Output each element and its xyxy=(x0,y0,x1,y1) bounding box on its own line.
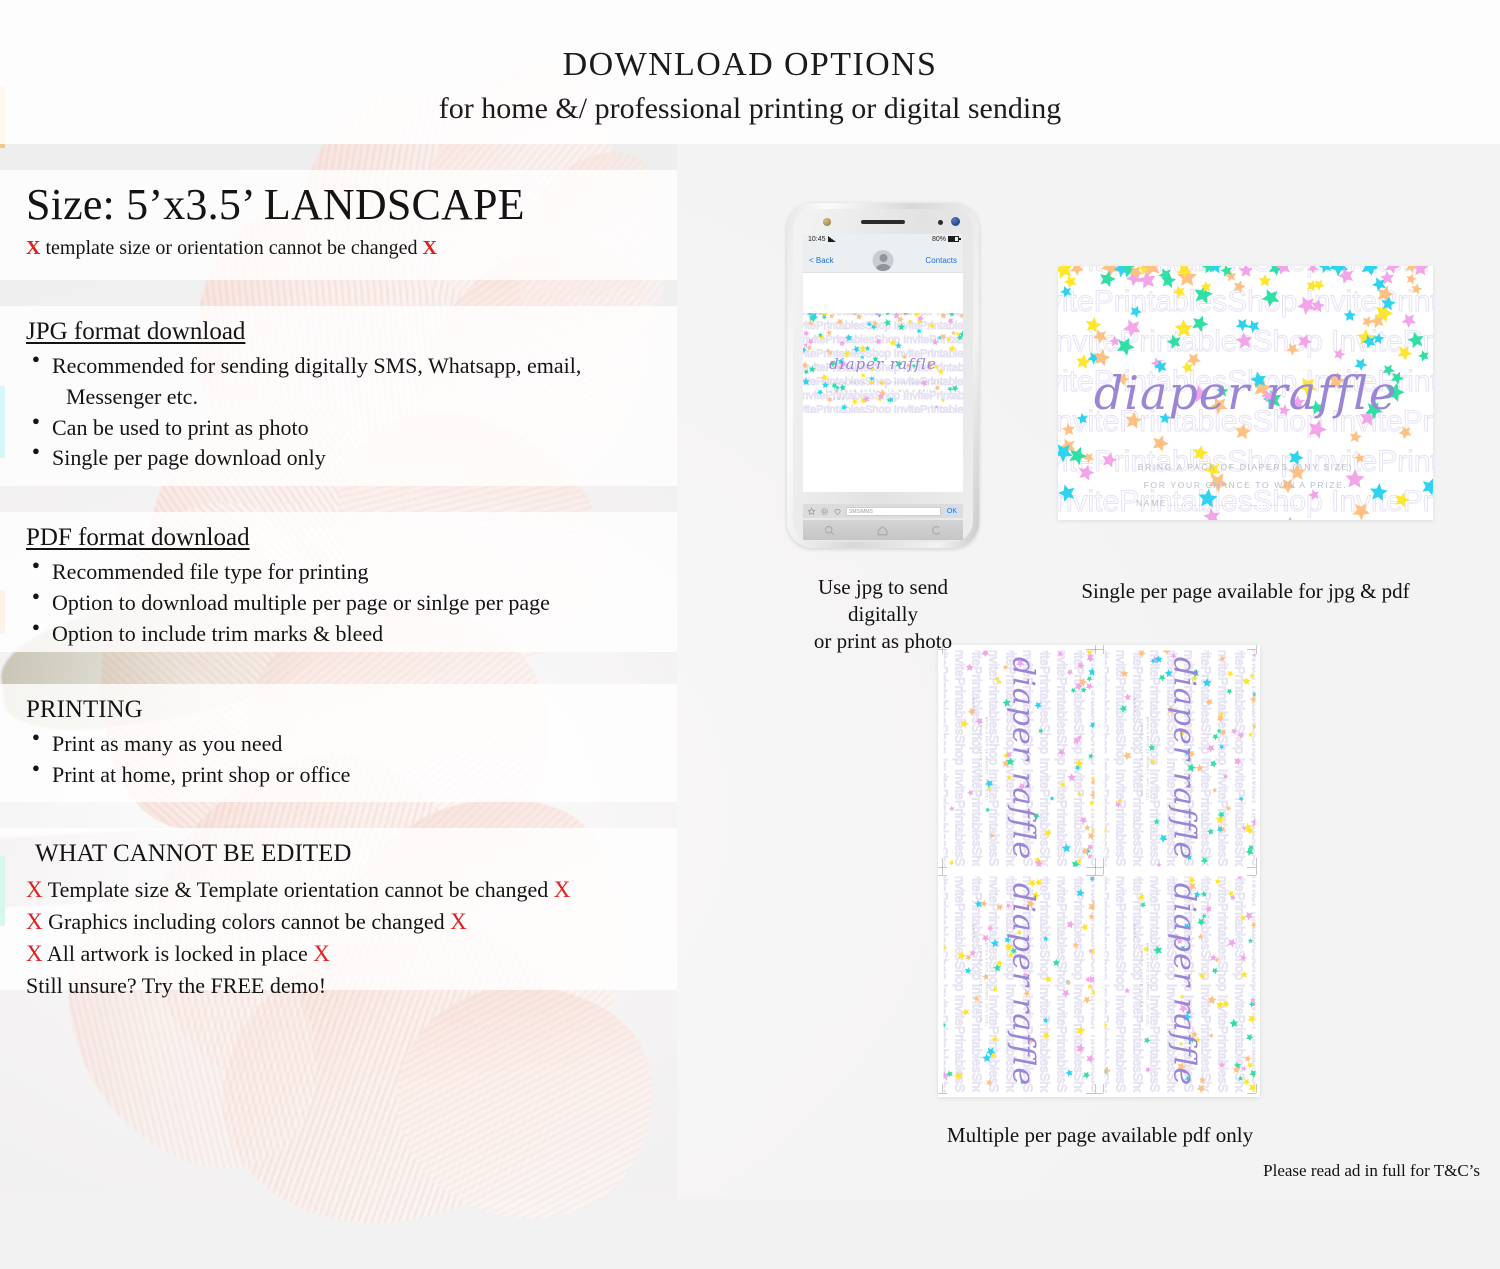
trim-mark xyxy=(1095,645,1096,654)
card-line2: FOR YOUR CHANCE TO WIN A PRIZE. xyxy=(978,650,982,866)
page-title: DOWNLOAD OPTIONS xyxy=(0,44,1500,85)
list-item: Single per page download only xyxy=(26,443,676,474)
card-title: diaper raffle xyxy=(803,355,963,373)
star-icon[interactable] xyxy=(807,507,816,516)
proximity-sensor-icon xyxy=(938,220,943,225)
section-printing: PRINTING Print as many as you need Print… xyxy=(26,696,676,791)
status-battery: 80% xyxy=(932,236,959,243)
phone-screen: 10:45 80% < Back Contacts InvitePrintabl… xyxy=(803,234,963,492)
sheet-card: InvitePrintablesShop InvitePrintablesSho… xyxy=(1103,875,1256,1093)
signal-icon xyxy=(828,236,836,242)
trim-mark xyxy=(1094,1093,1103,1094)
size-title: Size: 5’x3.5’ LANDSCAPE xyxy=(26,182,666,228)
home-icon[interactable] xyxy=(876,524,889,537)
trim-mark xyxy=(1247,1093,1256,1094)
trim-mark xyxy=(1247,649,1256,650)
list-item: Messenger etc. xyxy=(26,382,676,413)
phone-status-bar: 10:45 80% xyxy=(803,234,963,248)
card-title: diaper raffle xyxy=(1166,650,1201,866)
section-printing-heading: PRINTING xyxy=(26,696,676,724)
card-line1: BRING A PACK OF DIAPERS (ANY SIZE) xyxy=(1145,650,1149,866)
cannot-edit-line: X Graphics including colors cannot be ch… xyxy=(26,906,676,938)
trim-mark xyxy=(1094,875,1103,876)
caption-phone: Use jpg to send digitally or print as ph… xyxy=(787,574,979,655)
cannot-edit-text: Graphics including colors cannot be chan… xyxy=(48,909,444,934)
card-title: diaper raffle xyxy=(1005,876,1040,1092)
header: DOWNLOAD OPTIONS for home &/ professiona… xyxy=(0,44,1500,128)
section-cannot-edit: WHAT CANNOT BE EDITED X Template size & … xyxy=(26,840,676,1001)
size-note: X template size or orientation cannot be… xyxy=(26,237,666,260)
card-title: diaper raffle xyxy=(1058,366,1433,420)
card-line1: BRING A PACK OF DIAPERS (ANY SIZE) xyxy=(803,381,963,385)
sheet-card-rotated: InvitePrintablesShop InvitePrintablesSho… xyxy=(943,876,1094,1092)
trim-mark xyxy=(938,867,947,868)
caption-phone-line2: or print as photo xyxy=(787,628,979,655)
warning-x: X xyxy=(26,877,43,902)
trim-mark xyxy=(1103,645,1104,654)
card-line2: FOR YOUR CHANCE TO WIN A PRIZE. xyxy=(1139,876,1143,1092)
section-jpg: JPG format download Recommended for send… xyxy=(26,318,676,474)
front-camera-icon xyxy=(823,218,831,226)
card-line1: BRING A PACK OF DIAPERS (ANY SIZE) xyxy=(1058,462,1433,472)
list-item: Option to include trim marks & bleed xyxy=(26,619,676,650)
caption-phone-line1: Use jpg to send digitally xyxy=(787,574,979,628)
list-item: Print as many as you need xyxy=(26,729,676,760)
caption-terms: Please read ad in full for T&C’s xyxy=(1180,1160,1480,1182)
card-name-field: NAME………………… xyxy=(971,924,975,973)
card-title: diaper raffle xyxy=(1005,650,1040,866)
caption-single-card: Single per page available for jpg & pdf xyxy=(1058,578,1433,605)
single-card-preview: InvitePrintablesShop InvitePrintablesSho… xyxy=(1058,266,1433,520)
sheet-card: InvitePrintablesShop InvitePrintablesSho… xyxy=(942,649,1095,867)
sheet-card: InvitePrintablesShop InvitePrintablesSho… xyxy=(942,875,1095,1093)
card-name-field: NAME………………………………… xyxy=(1136,498,1300,508)
card-name-field: NAME………………… xyxy=(971,698,975,747)
section-jpg-heading: JPG format download xyxy=(26,318,676,346)
multi-per-page-sheet: InvitePrintablesShop InvitePrintablesSho… xyxy=(938,645,1260,1097)
warning-x: X xyxy=(313,941,330,966)
list-item: Recommended file type for printing xyxy=(26,557,676,588)
gear-icon[interactable] xyxy=(820,507,829,516)
warning-x: X xyxy=(26,941,43,966)
warning-x: X xyxy=(554,877,571,902)
card-title: diaper raffle xyxy=(1166,876,1201,1092)
search-icon[interactable] xyxy=(823,524,836,537)
phone-top-sensors xyxy=(801,214,965,232)
back-button[interactable]: < Back xyxy=(809,256,834,265)
contacts-button[interactable]: Contacts xyxy=(925,256,957,265)
heart-icon[interactable] xyxy=(833,507,842,516)
phone-compose-bar: SMS/MMS OK xyxy=(803,504,963,518)
card-name-field: NAME………………… xyxy=(1132,698,1136,747)
earpiece-speaker xyxy=(861,220,905,224)
sheet-card: InvitePrintablesShop InvitePrintablesSho… xyxy=(1103,649,1256,867)
warning-x-left: X xyxy=(26,237,40,259)
card-line2: FOR YOUR CHANCE TO WIN A PRIZE. xyxy=(978,876,982,1092)
trim-mark xyxy=(1256,645,1257,654)
ok-button[interactable]: OK xyxy=(945,508,959,515)
list-item: Can be used to print as photo xyxy=(26,413,676,444)
warning-x-right: X xyxy=(423,237,437,259)
caption-sheet: Multiple per page available pdf only xyxy=(920,1122,1280,1149)
card-line2: FOR YOUR CHANCE TO WIN A PRIZE. xyxy=(1058,480,1433,490)
sheet-card-rotated: InvitePrintablesShop InvitePrintablesSho… xyxy=(943,650,1094,866)
cannot-edit-line: X All artwork is locked in place X xyxy=(26,938,676,970)
cannot-edit-footer: Still unsure? Try the FREE demo! xyxy=(26,971,676,1002)
card-line1: BRING A PACK OF DIAPERS (ANY SIZE) xyxy=(1145,876,1149,1092)
light-sensor-icon xyxy=(951,217,960,226)
phone-nav-bar: < Back Contacts xyxy=(803,248,963,273)
page-subtitle: for home &/ professional printing or dig… xyxy=(0,89,1500,128)
card-name-field: NAME………………… xyxy=(1132,924,1136,973)
warning-x: X xyxy=(26,909,43,934)
sheet-card-rotated: InvitePrintablesShop InvitePrintablesSho… xyxy=(1104,876,1255,1092)
phone-message-area: InvitePrintablesShop InvitePrintablesSho… xyxy=(803,273,963,492)
card-name-field: NAME………………………………… xyxy=(829,397,913,401)
trim-mark xyxy=(1094,649,1103,650)
sheet-card-rotated: InvitePrintablesShop InvitePrintablesSho… xyxy=(1104,650,1255,866)
phone-card-preview: InvitePrintablesShop InvitePrintablesSho… xyxy=(803,313,963,413)
warning-x: X xyxy=(450,909,467,934)
phone-mockup: 10:45 80% < Back Contacts InvitePrintabl… xyxy=(787,203,979,548)
section-pdf-list: Recommended file type for printing Optio… xyxy=(26,557,676,649)
section-jpg-list: Recommended for sending digitally SMS, W… xyxy=(26,351,676,474)
card-line2: FOR YOUR CHANCE TO WIN A PRIZE. xyxy=(1139,650,1143,866)
cannot-edit-text: Template size & Template orientation can… xyxy=(48,877,549,902)
section-printing-list: Print as many as you need Print at home,… xyxy=(26,729,676,791)
battery-icon xyxy=(948,236,959,242)
section-pdf: PDF format download Recommended file typ… xyxy=(26,524,676,649)
back-arrow-icon[interactable] xyxy=(930,524,943,537)
size-note-text: template size or orientation cannot be c… xyxy=(45,237,417,259)
sms-input[interactable]: SMS/MMS xyxy=(846,507,941,516)
card-line2: FOR YOUR CHANCE TO WIN A PRIZE. xyxy=(803,389,963,393)
card-line1: BRING A PACK OF DIAPERS (ANY SIZE) xyxy=(984,650,988,866)
list-item: Print at home, print shop or office xyxy=(26,760,676,791)
trim-mark xyxy=(938,875,947,876)
avatar xyxy=(873,250,894,271)
card-line1: BRING A PACK OF DIAPERS (ANY SIZE) xyxy=(984,876,988,1092)
trim-mark xyxy=(1247,875,1256,876)
size-block: Size: 5’x3.5’ LANDSCAPE X template size … xyxy=(26,182,666,260)
section-pdf-heading: PDF format download xyxy=(26,524,676,552)
phone-system-navbar xyxy=(803,520,963,540)
status-time: 10:45 xyxy=(808,236,836,243)
list-item: Recommended for sending digitally SMS, W… xyxy=(26,351,676,382)
list-item: Option to download multiple per page or … xyxy=(26,588,676,619)
cannot-edit-text: All artwork is locked in place xyxy=(47,941,308,966)
cannot-edit-heading: WHAT CANNOT BE EDITED xyxy=(26,840,676,868)
cannot-edit-line: X Template size & Template orientation c… xyxy=(26,874,676,906)
trim-mark xyxy=(938,1093,947,1094)
